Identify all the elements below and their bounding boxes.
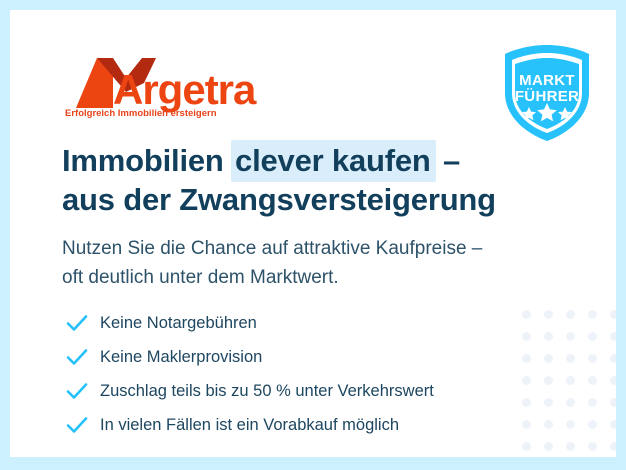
headline-highlight: clever kaufen xyxy=(231,140,436,182)
subheading-line-1: Nutzen Sie die Chance auf attraktive Kau… xyxy=(62,234,482,263)
subheading: Nutzen Sie die Chance auf attraktive Kau… xyxy=(62,234,482,292)
decorative-dot xyxy=(566,442,575,451)
decorative-dot xyxy=(610,376,616,385)
headline-text-after: – xyxy=(435,143,460,178)
decorative-dot xyxy=(522,310,531,319)
decorative-dot xyxy=(566,310,575,319)
check-icon xyxy=(65,313,89,333)
decorative-dot xyxy=(610,420,616,429)
checklist-item: In vielen Fällen ist ein Vorabkauf mögli… xyxy=(65,410,434,440)
argetra-logo-svg: Argetra Erfolgreich Immobilien ersteiger… xyxy=(64,52,264,118)
decorative-dot xyxy=(544,442,553,451)
decorative-dot xyxy=(588,310,597,319)
decorative-dot xyxy=(566,398,575,407)
decorative-dot xyxy=(522,376,531,385)
badge-line2: FÜHRER xyxy=(515,88,579,105)
checklist-item: Zuschlag teils bis zu 50 % unter Verkehr… xyxy=(65,376,434,406)
decorative-dot xyxy=(566,376,575,385)
decorative-dot xyxy=(544,398,553,407)
decorative-dot-grid xyxy=(522,310,616,457)
checklist-item-label: Zuschlag teils bis zu 50 % unter Verkehr… xyxy=(100,381,434,401)
decorative-dot xyxy=(610,332,616,341)
decorative-dot xyxy=(522,332,531,341)
checklist-item: Keine Maklerprovision xyxy=(65,342,434,372)
promo-banner: Argetra Erfolgreich Immobilien ersteiger… xyxy=(0,0,626,470)
headline: Immobilien clever kaufen – aus der Zwang… xyxy=(62,141,496,219)
decorative-dot xyxy=(544,332,553,341)
decorative-dot xyxy=(588,354,597,363)
decorative-dot xyxy=(588,332,597,341)
check-icon xyxy=(65,347,89,367)
argetra-logo: Argetra Erfolgreich Immobilien ersteiger… xyxy=(64,52,264,118)
check-icon xyxy=(65,381,89,401)
logo-tagline: Erfolgreich Immobilien ersteigern xyxy=(65,108,217,118)
decorative-dot xyxy=(522,420,531,429)
decorative-dot xyxy=(588,398,597,407)
check-icon xyxy=(65,415,89,435)
decorative-dot xyxy=(566,332,575,341)
headline-text-before: Immobilien xyxy=(62,143,232,178)
decorative-dot xyxy=(610,442,616,451)
decorative-dot xyxy=(522,354,531,363)
decorative-dot xyxy=(544,376,553,385)
decorative-dot xyxy=(522,398,531,407)
decorative-dot xyxy=(610,310,616,319)
decorative-dot xyxy=(544,420,553,429)
decorative-dot xyxy=(522,442,531,451)
checklist-item-label: Keine Maklerprovision xyxy=(100,347,262,367)
decorative-dot xyxy=(566,420,575,429)
badge-line1: MARKT xyxy=(519,72,575,89)
shield-badge-icon: MARKT FÜHRER xyxy=(499,43,595,143)
decorative-dot xyxy=(588,420,597,429)
decorative-dot xyxy=(610,354,616,363)
headline-line-1: Immobilien clever kaufen – xyxy=(62,141,496,180)
decorative-dot xyxy=(544,354,553,363)
banner-card: Argetra Erfolgreich Immobilien ersteiger… xyxy=(10,10,616,457)
subheading-line-2: oft deutlich unter dem Marktwert. xyxy=(62,263,482,292)
decorative-dot xyxy=(588,442,597,451)
headline-line-2: aus der Zwangsversteigerung xyxy=(62,180,496,219)
checklist-item: Keine Notargebühren xyxy=(65,308,434,338)
benefits-checklist: Keine NotargebührenKeine Maklerprovision… xyxy=(65,308,434,444)
checklist-item-label: In vielen Fällen ist ein Vorabkauf mögli… xyxy=(100,415,399,435)
decorative-dot xyxy=(566,354,575,363)
logo-wordmark: Argetra xyxy=(113,66,257,113)
decorative-dot xyxy=(610,398,616,407)
market-leader-badge: MARKT FÜHRER xyxy=(499,43,595,143)
decorative-dot xyxy=(544,310,553,319)
checklist-item-label: Keine Notargebühren xyxy=(100,313,257,333)
decorative-dot xyxy=(588,376,597,385)
